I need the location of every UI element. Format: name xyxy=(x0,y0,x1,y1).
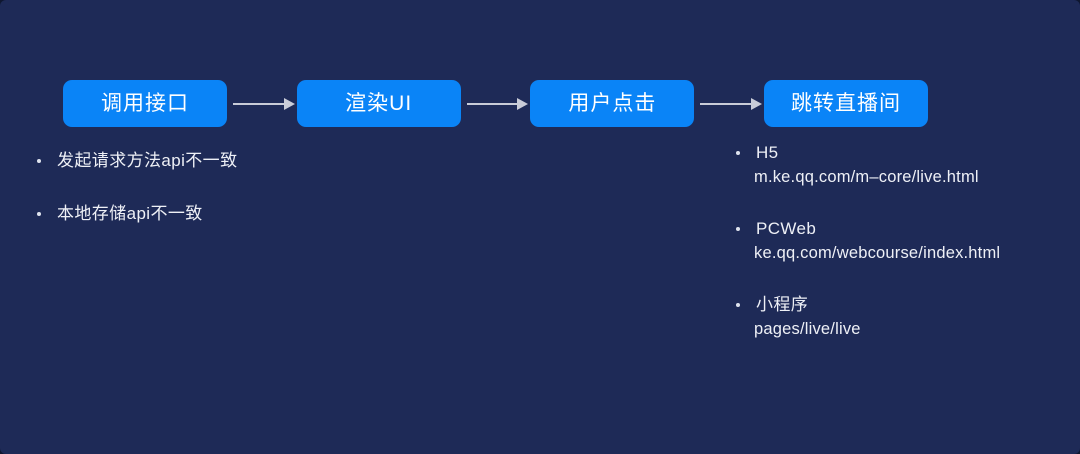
arrow-shaft xyxy=(467,103,520,105)
platform-name: H5 xyxy=(756,142,1065,164)
platform-name: 小程序 xyxy=(756,294,1065,316)
list-item: PCWeb ke.qq.com/webcourse/index.html xyxy=(735,218,1065,266)
flow-step-4-label: 跳转直播间 xyxy=(791,93,901,114)
flow-step-3-label: 用户点击 xyxy=(568,93,656,114)
flow-step-3[interactable]: 用户点击 xyxy=(530,80,694,127)
arrow-head xyxy=(517,98,528,110)
flow-step-4[interactable]: 跳转直播间 xyxy=(764,80,928,127)
arrow-shaft xyxy=(700,103,753,105)
list-item: 发起请求方法api不一致 xyxy=(36,150,456,172)
issues-bullet-list: 发起请求方法api不一致 本地存储api不一致 xyxy=(36,150,456,256)
flow-step-1[interactable]: 调用接口 xyxy=(63,80,227,127)
platform-paths-bullet-list: H5 m.ke.qq.com/m–core/live.html PCWeb ke… xyxy=(735,142,1065,370)
slide-canvas: 调用接口 渲染UI 用户点击 跳转直播间 发起请求方法api不一致 本地存储ap… xyxy=(0,0,1080,454)
list-item: 小程序 pages/live/live xyxy=(735,294,1065,342)
arrow-head xyxy=(751,98,762,110)
flow-step-1-label: 调用接口 xyxy=(101,93,189,114)
platform-path: m.ke.qq.com/m–core/live.html xyxy=(754,164,1065,190)
process-flow-diagram: 调用接口 渲染UI 用户点击 跳转直播间 xyxy=(63,80,928,127)
arrow-right-icon-3 xyxy=(696,97,762,111)
platform-name: PCWeb xyxy=(756,218,1065,240)
arrow-shaft xyxy=(233,103,286,105)
list-item: H5 m.ke.qq.com/m–core/live.html xyxy=(735,142,1065,190)
platform-path: pages/live/live xyxy=(754,316,1065,342)
arrow-right-icon-2 xyxy=(463,97,529,111)
arrow-head xyxy=(284,98,295,110)
flow-step-2[interactable]: 渲染UI xyxy=(297,80,461,127)
list-item: 本地存储api不一致 xyxy=(36,203,456,225)
arrow-right-icon-1 xyxy=(229,97,295,111)
flow-step-2-label: 渲染UI xyxy=(345,93,412,114)
platform-path: ke.qq.com/webcourse/index.html xyxy=(754,240,1065,266)
